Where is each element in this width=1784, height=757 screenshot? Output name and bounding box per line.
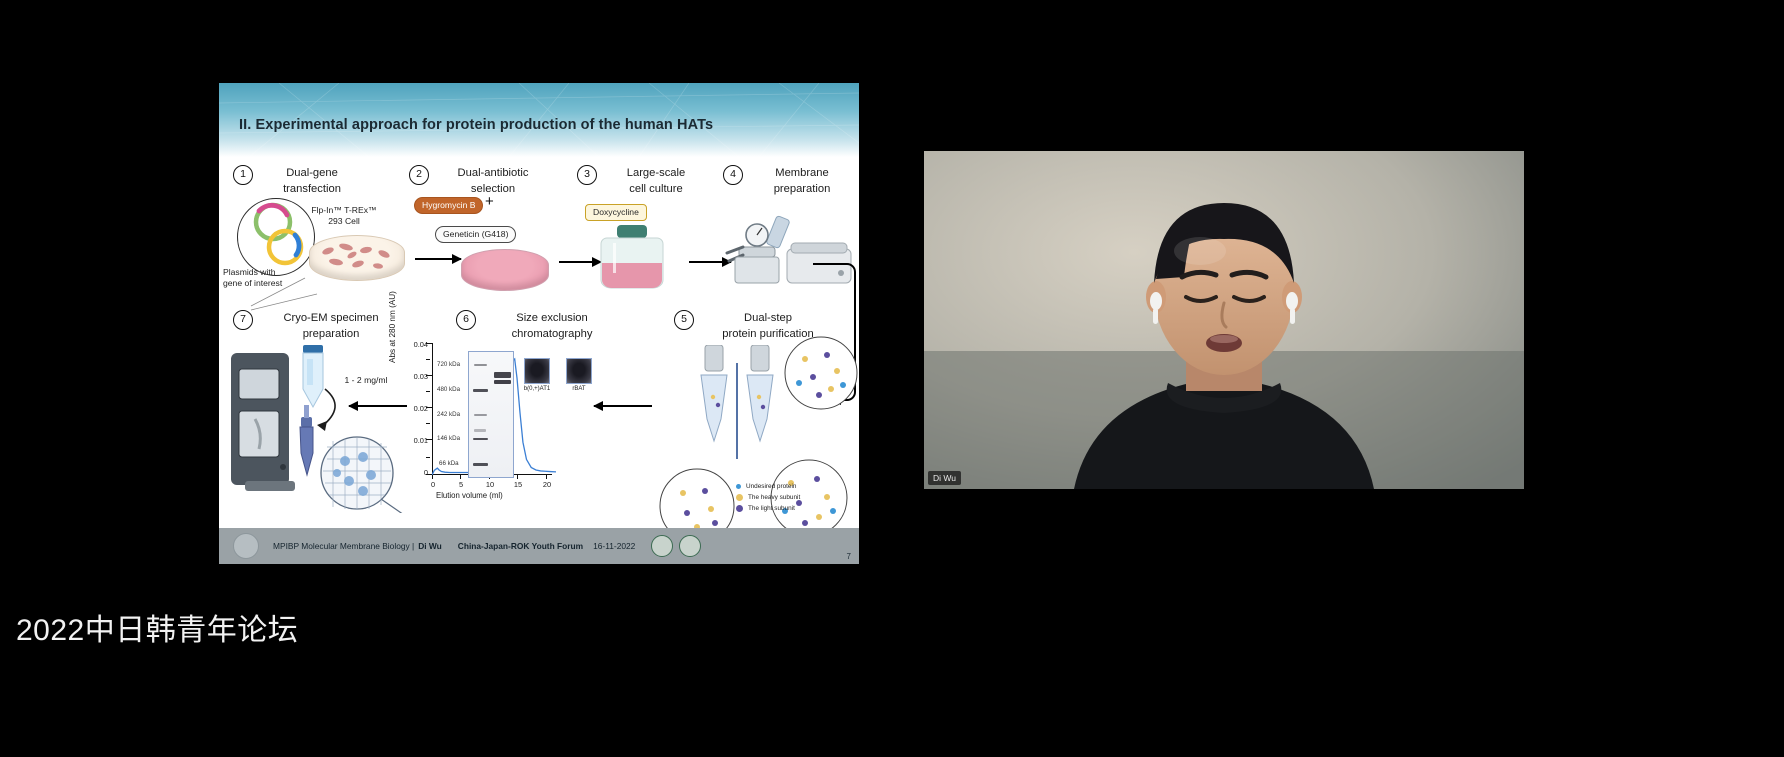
footer-org: MPIBP Molecular Membrane Biology | bbox=[273, 541, 414, 551]
webcam-portrait bbox=[924, 151, 1524, 489]
sds-page-gel bbox=[468, 351, 514, 478]
y-tick-0.01: 0.01 bbox=[402, 436, 428, 445]
step-5-number: 5 bbox=[674, 310, 694, 330]
participant-name-badge: Di Wu bbox=[928, 471, 961, 485]
step-3-label: Large-scale cell culture bbox=[601, 166, 711, 197]
hygromycin-tag: Hygromycin B bbox=[414, 197, 483, 214]
chart-x-axis-label: Elution volume (ml) bbox=[436, 491, 503, 500]
blot-label-rbat: rBAT bbox=[557, 386, 601, 392]
western-blot-bo-at1 bbox=[524, 358, 550, 384]
petri-dish-2 bbox=[461, 249, 549, 291]
heavy-subunit-cluster-icon bbox=[736, 494, 743, 501]
x-tick-0: 0 bbox=[425, 480, 441, 489]
seal-logo-1 bbox=[651, 535, 673, 557]
x-tick-10: 10 bbox=[482, 480, 498, 489]
x-tick-20: 20 bbox=[539, 480, 555, 489]
step-4-number: 4 bbox=[723, 165, 743, 185]
protein-mix-bubble-top bbox=[775, 333, 859, 413]
x-tickmark-20 bbox=[546, 475, 547, 479]
x-tickmark-15 bbox=[517, 475, 518, 479]
y-tick-0.03: 0.03 bbox=[402, 372, 428, 381]
cell-line-note: Flp-In™ T-REx™ 293 Cell bbox=[289, 205, 399, 227]
cryo-grid-art bbox=[311, 433, 403, 513]
y-tickmark-minor-2 bbox=[426, 391, 430, 392]
legend-label-heavy-subunit: The heavy subunit bbox=[748, 494, 800, 501]
x-tickmark-5 bbox=[460, 475, 461, 479]
gel-band-sample-top bbox=[494, 372, 511, 378]
doxycycline-tag: Doxycycline bbox=[585, 204, 647, 221]
legend-item-heavy-subunit: The heavy subunit bbox=[736, 492, 800, 503]
max-planck-logo bbox=[233, 533, 259, 559]
roller-bottle-art bbox=[593, 221, 681, 293]
footer-presenter: Di Wu bbox=[418, 541, 442, 551]
presentation-slide: II. Experimental approach for protein pr… bbox=[219, 83, 859, 564]
gel-band-smear bbox=[474, 429, 486, 432]
step-6-label: Size exclusion chromatography bbox=[482, 311, 622, 342]
gel-band-480 bbox=[473, 389, 488, 392]
western-blot-rbat bbox=[566, 358, 592, 384]
gel-band-66 bbox=[473, 463, 488, 466]
arrow-5-to-6 bbox=[594, 405, 652, 407]
footer-event: China-Japan-ROK Youth Forum bbox=[458, 541, 583, 551]
seal-logo-2 bbox=[679, 535, 701, 557]
y-tickmark-minor-1 bbox=[426, 423, 430, 424]
step-1-number: 1 bbox=[233, 165, 253, 185]
step-3-number: 3 bbox=[577, 165, 597, 185]
step-2-number: 2 bbox=[409, 165, 429, 185]
slide-page-number: 7 bbox=[847, 552, 851, 561]
slide-footer: MPIBP Molecular Membrane Biology | Di Wu… bbox=[219, 528, 859, 564]
legend-label-undesired-protein: Undesired protein bbox=[746, 483, 796, 490]
step-6-number: 6 bbox=[456, 310, 476, 330]
x-tick-5: 5 bbox=[453, 480, 469, 489]
forum-caption: 2022中日韩青年论坛 bbox=[16, 605, 298, 649]
slide-title: II. Experimental approach for protein pr… bbox=[239, 117, 713, 133]
mw-marker-720: 720 kDa bbox=[437, 361, 460, 368]
legend-label-light-subunit: The light subunit bbox=[748, 505, 795, 512]
step-1-label: Dual-gene transfection bbox=[257, 166, 367, 197]
undesired-protein-dot-icon bbox=[736, 484, 741, 489]
y-tick-0.00: 0 bbox=[402, 468, 428, 477]
x-tickmark-0 bbox=[432, 475, 433, 479]
video-tile-di-wu[interactable]: Di Wu bbox=[924, 151, 1524, 489]
x-tick-15: 15 bbox=[510, 480, 526, 489]
y-tickmark-minor-3 bbox=[426, 359, 430, 360]
gel-band-242 bbox=[474, 414, 487, 416]
mw-marker-242: 242 kDa bbox=[437, 411, 460, 418]
footer-date: 16-11-2022 bbox=[593, 541, 635, 551]
step-4-label: Membrane preparation bbox=[747, 166, 857, 197]
y-tick-0.02: 0.02 bbox=[402, 404, 428, 413]
screen-share-stage: II. Experimental approach for protein pr… bbox=[0, 0, 1784, 757]
gel-band-sample-bottom bbox=[494, 380, 511, 384]
gel-band-146 bbox=[473, 438, 488, 440]
plus-symbol: + bbox=[485, 193, 494, 210]
y-tickmark-minor-0 bbox=[426, 457, 430, 458]
legend-item-undesired-protein: Undesired protein bbox=[736, 481, 800, 492]
chart-y-axis-label: Abs at 280 nm (AU) bbox=[388, 263, 397, 363]
plasmids-note: Plasmids with gene of interest bbox=[219, 267, 315, 289]
arrow-1-to-2 bbox=[415, 258, 461, 260]
legend-item-light-subunit: The light subunit bbox=[736, 503, 800, 514]
gel-band-720 bbox=[474, 364, 487, 366]
mw-marker-480: 480 kDa bbox=[437, 386, 460, 393]
mw-marker-66: 66 kDa bbox=[439, 460, 459, 467]
y-tick-0.04: 0.04 bbox=[402, 340, 428, 349]
geneticin-tag: Geneticin (G418) bbox=[435, 226, 516, 243]
mw-marker-146: 146 kDa bbox=[437, 435, 460, 442]
light-subunit-cluster-icon bbox=[736, 505, 743, 512]
slide-legend: Undesired protein The heavy subunit The … bbox=[736, 481, 800, 514]
concentration-note: 1 - 2 mg/ml bbox=[331, 375, 401, 386]
